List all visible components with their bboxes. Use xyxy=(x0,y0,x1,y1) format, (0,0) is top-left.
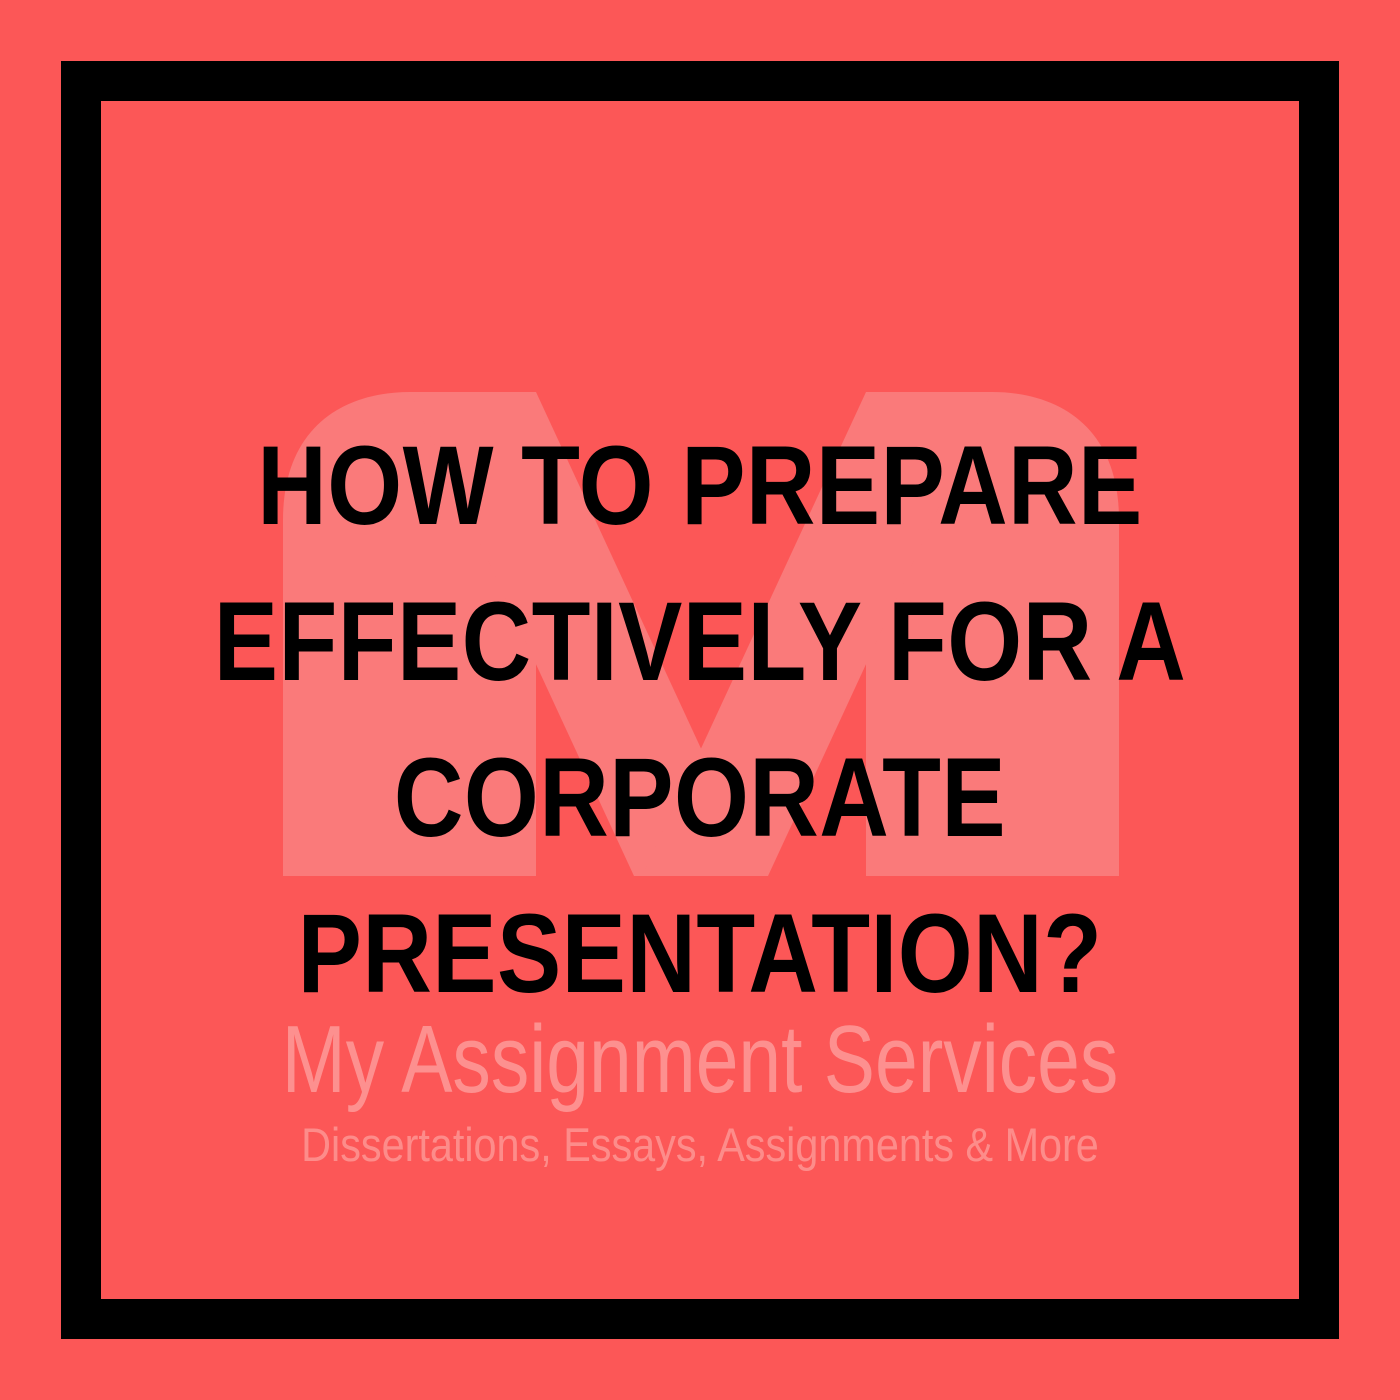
headline-line-2: EFFECTIVELY FOR A xyxy=(98,564,1302,720)
headline: HOW TO PREPARE EFFECTIVELY FOR A CORPORA… xyxy=(0,408,1400,1032)
headline-line-3: CORPORATE xyxy=(98,720,1302,876)
brand-watermark: My Assignment Services Dissertations, Es… xyxy=(0,1008,1400,1172)
headline-line-1: HOW TO PREPARE xyxy=(98,408,1302,564)
headline-line-4: PRESENTATION? xyxy=(98,876,1302,1032)
brand-tagline: Dissertations, Essays, Assignments & Mor… xyxy=(84,1118,1316,1172)
banner-canvas: HOW TO PREPARE EFFECTIVELY FOR A CORPORA… xyxy=(0,0,1400,1400)
